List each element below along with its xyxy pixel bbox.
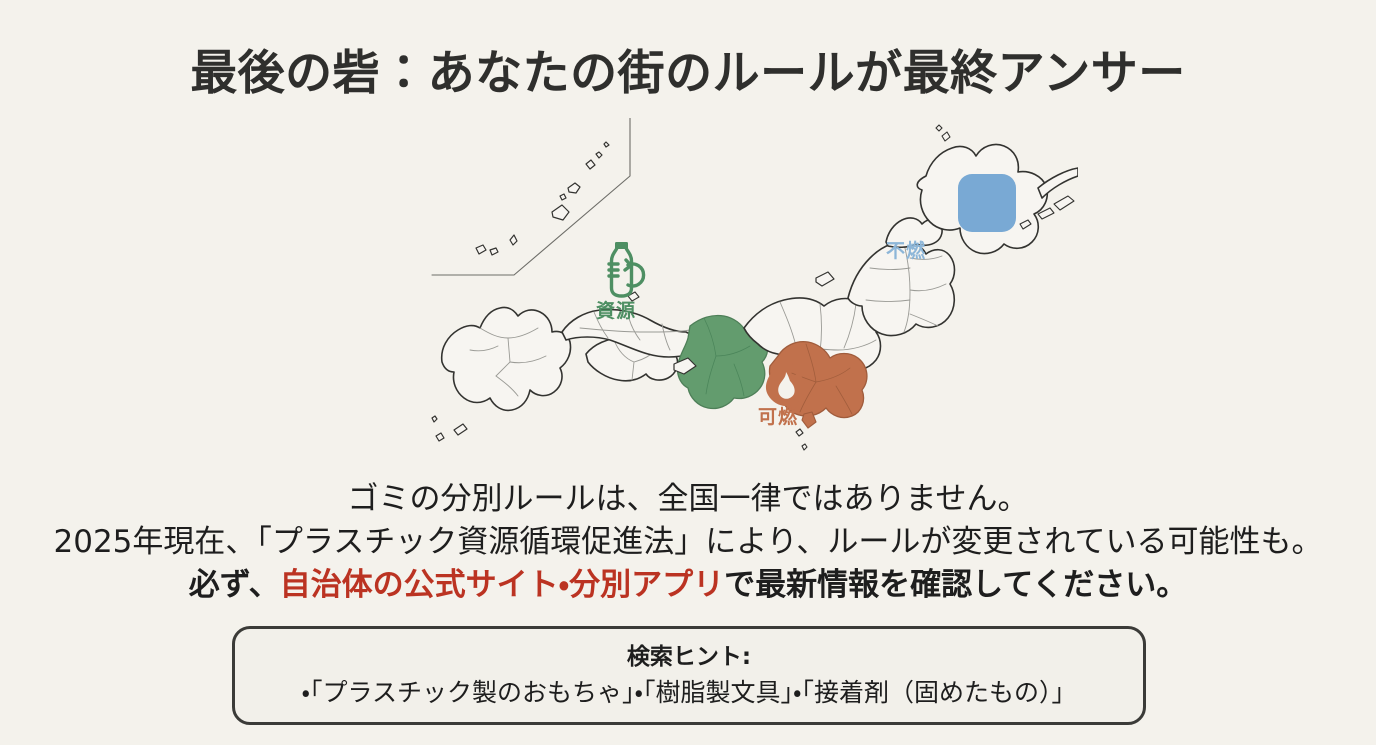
- japan-map-svg: [418, 118, 1078, 458]
- izu-islands: [796, 429, 807, 450]
- body-line-3-suffix: で最新情報を確認してください。: [724, 567, 1187, 603]
- japan-map: 資源 可燃 不燃: [418, 118, 1078, 458]
- region-label-funen: 不燃: [886, 242, 926, 261]
- body-line-2: 2025年現在、「プラスチック資源循環促進法」により、ルールが変更されている可能…: [0, 521, 1376, 564]
- search-hint-box: 検索ヒント: ・「プラスチック製のおもちゃ」・「樹脂製文具」・「接着剤（固めたも…: [232, 626, 1146, 725]
- page-title: 最後の砦：あなたの街のルールが最終アンサー: [0, 46, 1376, 102]
- body-text-block: ゴミの分別ルールは、全国一律ではありません。 2025年現在、「プラスチック資源…: [0, 478, 1376, 606]
- body-line-1: ゴミの分別ルールは、全国一律ではありません。: [0, 478, 1376, 521]
- body-line-3-highlight: 自治体の公式サイト・分別アプリ: [280, 567, 725, 603]
- region-label-kanen: 可燃: [758, 408, 798, 427]
- flame-icon: [762, 350, 808, 406]
- southern-islands: [432, 416, 467, 441]
- pet-bottle-recycle-icon: [598, 240, 652, 300]
- slide-root: 最後の砦：あなたの街のルールが最終アンサー: [0, 0, 1376, 745]
- region-label-shigen: 資源: [596, 302, 636, 321]
- kyushu-outline: [442, 307, 571, 410]
- body-line-3: 必ず、自治体の公式サイト・分別アプリで最新情報を確認してください。: [0, 564, 1376, 607]
- okinawa-islands: [476, 142, 609, 255]
- search-hint-items: ・「プラスチック製のおもちゃ」・「樹脂製文具」・「接着剤（固めたもの）」: [301, 677, 1076, 710]
- body-line-3-prefix: 必ず、: [189, 567, 280, 603]
- funen-marker-square: [958, 174, 1016, 232]
- sado-island: [816, 272, 834, 286]
- search-hint-title: 検索ヒント:: [627, 643, 751, 672]
- hokkaido-shiretoko: [1038, 168, 1078, 198]
